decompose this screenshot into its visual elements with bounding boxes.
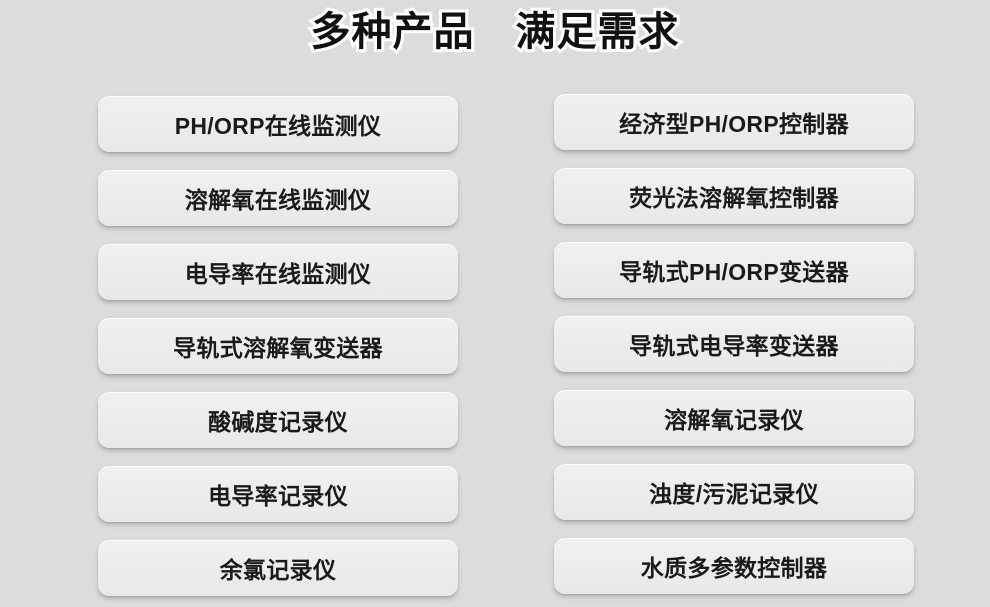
product-chip-conductivity-recorder[interactable]: 电导率记录仪 [98,466,458,522]
product-grid: PH/ORP在线监测仪 经济型PH/ORP控制器 溶解氧在线监测仪 荧光法溶解氧… [98,96,914,596]
product-chip-din-rail-conductivity-transmitter[interactable]: 导轨式电导率变送器 [554,316,914,372]
product-chip-conductivity-online-monitor[interactable]: 电导率在线监测仪 [98,244,458,300]
product-chip-din-rail-ph-orp-transmitter[interactable]: 导轨式PH/ORP变送器 [554,242,914,298]
page-title: 多种产品 满足需求 [0,8,990,57]
product-chip-fluorescent-do-controller[interactable]: 荧光法溶解氧控制器 [554,168,914,224]
product-chip-ph-orp-online-monitor[interactable]: PH/ORP在线监测仪 [98,96,458,152]
product-chip-economy-ph-orp-controller[interactable]: 经济型PH/ORP控制器 [554,94,914,150]
product-chip-do-online-monitor[interactable]: 溶解氧在线监测仪 [98,170,458,226]
product-chip-multiparameter-controller[interactable]: 水质多参数控制器 [554,538,914,594]
product-chip-turbidity-sludge-recorder[interactable]: 浊度/污泥记录仪 [554,464,914,520]
product-chip-residual-chlorine-recorder[interactable]: 余氯记录仪 [98,540,458,596]
product-chip-ph-recorder[interactable]: 酸碱度记录仪 [98,392,458,448]
product-chip-din-rail-do-transmitter[interactable]: 导轨式溶解氧变送器 [98,318,458,374]
product-chip-do-recorder[interactable]: 溶解氧记录仪 [554,390,914,446]
